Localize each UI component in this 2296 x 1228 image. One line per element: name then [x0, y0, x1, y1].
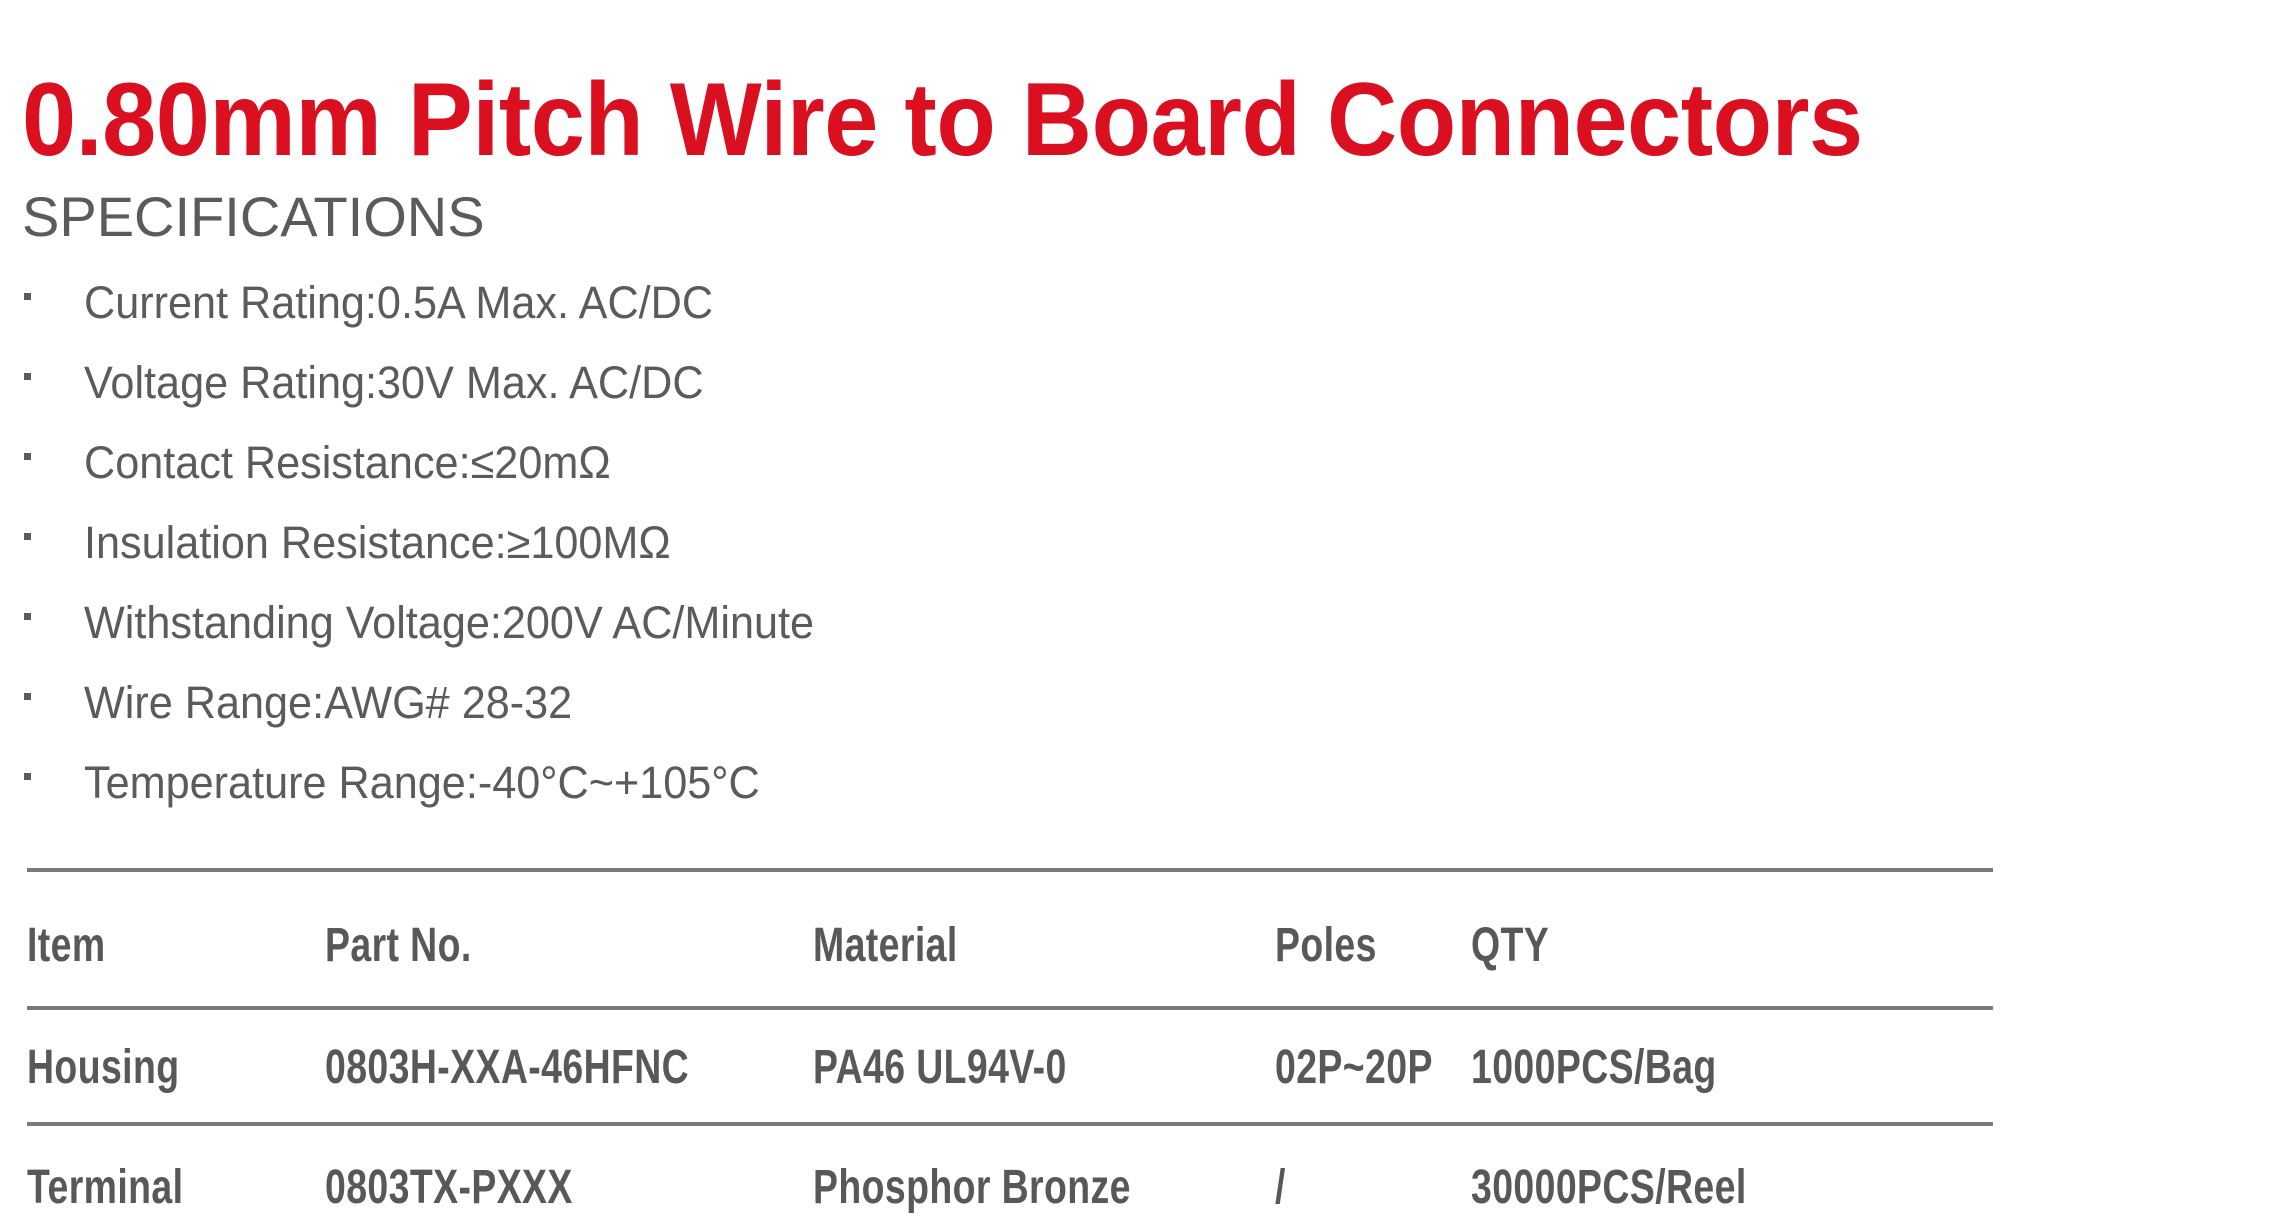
column-header-part-no: Part No. [325, 916, 472, 976]
spec-list-item: Insulation Resistance:≥100MΩ [0, 503, 2296, 583]
spec-item-label: Withstanding Voltage:200V AC/Minute [84, 583, 814, 663]
cell-qty: 1000PCS/Bag [1471, 1038, 1717, 1098]
cell-part-no: 0803H-XXA-46HFNC [325, 1038, 689, 1098]
spec-item-label: Current Rating:0.5A Max. AC/DC [84, 263, 713, 343]
cell-material: PA46 UL94V-0 [813, 1038, 1067, 1098]
cell-item: Housing [27, 1038, 179, 1098]
spec-list-item: Voltage Rating:30V Max. AC/DC [0, 343, 2296, 423]
square-bullet-icon [24, 453, 31, 460]
specifications-list: Current Rating:0.5A Max. AC/DC Voltage R… [0, 263, 2296, 823]
square-bullet-icon [24, 693, 31, 700]
datasheet-page: 0.80mm Pitch Wire to Board Connectors SP… [0, 0, 2296, 1228]
page-title: 0.80mm Pitch Wire to Board Connectors [22, 66, 2126, 174]
table-row: Terminal 0803TX-PXXX Phosphor Bronze / 3… [27, 1158, 1993, 1218]
square-bullet-icon [24, 533, 31, 540]
table-rule-row-separator [27, 1122, 1993, 1126]
spec-list-item: Contact Resistance:≤20mΩ [0, 423, 2296, 503]
spec-list-item: Temperature Range:-40°C~+105°C [0, 743, 2296, 823]
table-rule-header [27, 1006, 1993, 1010]
square-bullet-icon [24, 373, 31, 380]
table-header-row: Item Part No. Material Poles QTY [27, 916, 1993, 976]
specifications-heading: SPECIFICATIONS [22, 186, 485, 248]
square-bullet-icon [24, 773, 31, 780]
spec-item-label: Insulation Resistance:≥100MΩ [84, 503, 671, 583]
spec-list-item: Withstanding Voltage:200V AC/Minute [0, 583, 2296, 663]
spec-list-item: Wire Range:AWG# 28-32 [0, 663, 2296, 743]
cell-poles: 02P~20P [1275, 1038, 1433, 1098]
cell-part-no: 0803TX-PXXX [325, 1158, 573, 1218]
cell-item: Terminal [27, 1158, 183, 1218]
cell-material: Phosphor Bronze [813, 1158, 1131, 1218]
spec-item-label: Temperature Range:-40°C~+105°C [84, 743, 760, 823]
column-header-item: Item [27, 916, 106, 976]
column-header-material: Material [813, 916, 958, 976]
column-header-poles: Poles [1275, 916, 1377, 976]
cell-qty: 30000PCS/Reel [1471, 1158, 1747, 1218]
column-header-qty: QTY [1471, 916, 1549, 976]
table-row: Housing 0803H-XXA-46HFNC PA46 UL94V-0 02… [27, 1038, 1993, 1098]
spec-item-label: Wire Range:AWG# 28-32 [84, 663, 572, 743]
spec-list-item: Current Rating:0.5A Max. AC/DC [0, 263, 2296, 343]
spec-item-label: Voltage Rating:30V Max. AC/DC [84, 343, 704, 423]
table-rule-top [27, 868, 1993, 872]
square-bullet-icon [24, 613, 31, 620]
spec-item-label: Contact Resistance:≤20mΩ [84, 423, 611, 503]
cell-poles: / [1275, 1158, 1286, 1218]
square-bullet-icon [24, 293, 31, 300]
